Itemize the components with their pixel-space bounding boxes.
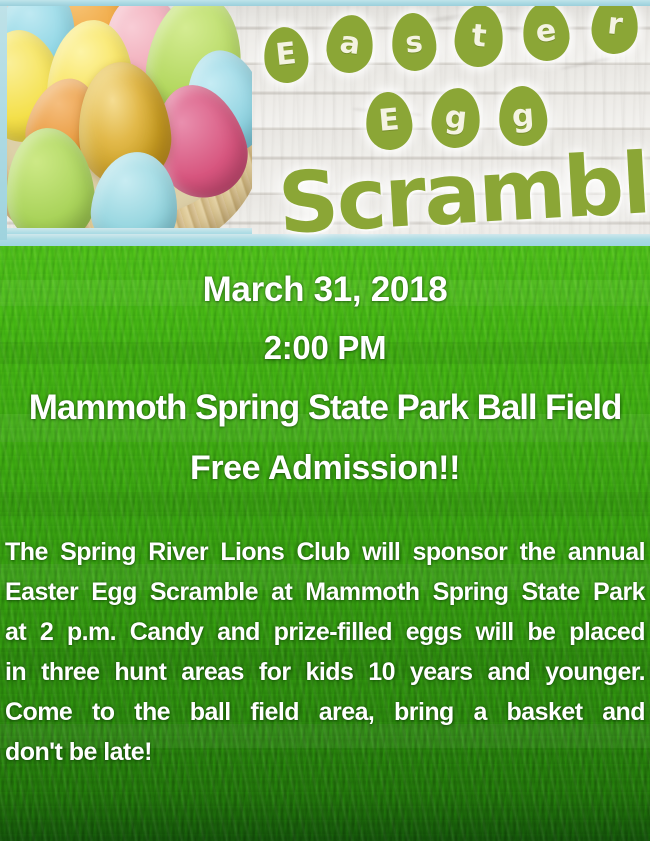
top-border-rule	[0, 0, 650, 6]
description-line-3: at 2 p.m. Candy and prize-filled eggs wi…	[5, 612, 645, 652]
letter-egg-g2: g	[497, 84, 549, 147]
easter-egg-scramble-flyer: E a s t e r E g g Scramble March 31, 201…	[0, 0, 650, 841]
event-time: 2:00 PM	[0, 329, 650, 367]
event-admission: Free Admission!!	[0, 449, 650, 488]
event-location: Mammoth Spring State Park Ball Field	[0, 388, 650, 428]
description-line-5: Come to the ball field area, bring a bas…	[5, 692, 645, 732]
description-line-1: The Spring River Lions Club will sponsor…	[5, 532, 645, 572]
letter-egg-g1: g	[429, 86, 483, 151]
event-description: The Spring River Lions Club will sponsor…	[5, 532, 645, 772]
flyer-content: March 31, 2018 2:00 PM Mammoth Spring St…	[0, 246, 650, 841]
description-line-6: don't be late!	[5, 732, 645, 772]
flyer-banner: E a s t e r E g g Scramble	[0, 0, 650, 246]
description-line-4: in three hunt areas for kids 10 years an…	[5, 652, 645, 692]
description-line-2: Easter Egg Scramble at Mammoth Spring St…	[5, 572, 645, 612]
egg-word-eggs: E g g	[0, 0, 650, 160]
event-date: March 31, 2018	[0, 270, 650, 310]
letter-egg-E2: E	[364, 90, 415, 152]
